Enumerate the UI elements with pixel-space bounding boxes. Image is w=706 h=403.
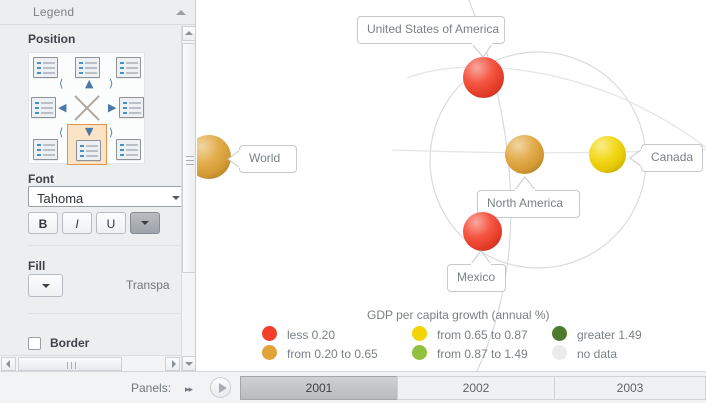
arrow-top-right-icon: ⟩ [109,78,113,89]
scrollbar-thumb[interactable] [182,43,196,273]
callout-tail-world [227,150,241,170]
callout-tail-north-america [515,176,537,192]
font-color-dropdown-button[interactable] [130,212,160,234]
legend-swatch-4 [552,326,567,341]
scroll-right-button[interactable] [165,357,180,371]
arrow-top-left-icon: ⟨ [59,78,63,89]
panel-header[interactable]: Legend [0,0,196,25]
legend-label-2: from 0.65 to 0.87 [437,328,528,342]
fill-section-label: Fill [28,259,45,273]
settings-scroll-content: Position ⟨ ▲ ⟩ ◀ [0,26,181,351]
timeline-item-2003[interactable]: 2003 [554,376,706,400]
fill-transparency-label: Transpa [126,278,170,292]
callout-tail-mexico [471,250,493,266]
position-cell-top-right[interactable]: ⟩ [107,53,146,90]
callout-world[interactable]: World [239,145,297,173]
legend-label-1: from 0.20 to 0.65 [287,347,378,361]
arrow-up-icon: ▲ [85,78,93,89]
chevron-down-icon [42,284,50,288]
position-cell-bottom-center-selected[interactable]: ▼ [67,124,107,165]
legend-label-4: greater 1.49 [577,328,642,342]
triangle-right-icon [172,360,176,368]
legend-title: GDP per capita growth (annual %) [367,308,550,322]
bubble-chart-canvas[interactable]: World United States of America North Ame… [197,0,706,371]
position-cell-top-center[interactable]: ▲ [68,53,107,90]
font-section-label: Font [28,172,54,186]
legend-settings-panel: Legend Position ⟨ ▲ ⟩ [0,0,196,371]
settings-horizontal-scrollbar[interactable] [0,355,181,371]
chevron-down-icon [141,221,149,225]
italic-button[interactable]: I [62,212,92,234]
scrollbar-thumb[interactable] [18,357,122,371]
play-button[interactable] [210,377,231,398]
legend-swatch-0 [262,326,277,341]
arrow-right-icon: ▶ [108,102,116,113]
italic-label: I [63,217,91,231]
font-family-value: Tahoma [37,191,83,206]
position-cell-bottom-right[interactable]: ⟩ [107,127,146,164]
font-family-select[interactable]: Tahoma [28,186,181,207]
arrow-bottom-left-icon: ⟨ [59,127,63,138]
divider [28,245,181,246]
legend-swatch-3 [412,345,427,360]
position-cell-top-left[interactable]: ⟨ [29,53,68,90]
position-cell-middle-left[interactable]: ◀ [29,90,68,127]
scroll-left-button[interactable] [1,357,16,371]
underline-label: U [97,217,125,231]
triangle-down-icon [185,362,193,366]
divider [28,313,181,314]
legend-label-5: no data [577,347,617,361]
callout-mexico[interactable]: Mexico [447,264,506,292]
settings-vertical-scrollbar[interactable] [181,26,196,371]
double-chevron-right-icon[interactable]: ▸▸ [185,384,192,395]
play-icon [219,383,227,393]
chevron-down-icon [172,196,180,200]
legend-swatch-1 [262,345,277,360]
triangle-up-icon [185,31,193,35]
fill-color-dropdown-button[interactable] [28,274,63,297]
legend-label-0: less 0.20 [287,328,335,342]
bubble-canada[interactable] [589,136,626,173]
position-cell-bottom-left[interactable]: ⟨ [29,127,68,164]
callout-tail-canada [629,149,643,169]
border-section-label: Border [50,336,89,350]
legend-swatch-5 [552,345,567,360]
application-window: Legend Position ⟨ ▲ ⟩ [0,0,706,403]
bubble-mexico[interactable] [463,212,502,251]
border-checkbox[interactable] [28,337,41,350]
callout-label: Canada [651,150,693,164]
bold-label: B [29,217,57,231]
arrow-down-icon: ▼ [85,126,93,137]
bold-button[interactable]: B [28,212,58,234]
callout-tail-usa [472,43,494,59]
position-cell-middle-right[interactable]: ▶ [107,90,146,127]
underline-button[interactable]: U [96,212,126,234]
timeline-item-2002[interactable]: 2002 [397,376,555,400]
chevron-up-icon[interactable] [176,10,186,15]
triangle-left-icon [6,360,10,368]
legend-label-3: from 0.87 to 1.49 [437,347,528,361]
panels-label: Panels: [131,381,171,395]
callout-label: United States of America [367,22,499,36]
timeline-label: 2001 [241,381,397,395]
scroll-down-button[interactable] [182,356,196,371]
legend-swatch-2 [412,326,427,341]
callout-united-states-of-america[interactable]: United States of America [357,16,505,44]
arrow-left-icon: ◀ [58,102,66,113]
bubble-united-states-of-america[interactable] [463,57,504,98]
callout-canada[interactable]: Canada [641,144,703,172]
timeline-item-2001[interactable]: 2001 [240,376,398,400]
callout-label: Mexico [457,270,495,284]
callout-label: North America [487,196,563,210]
scroll-up-button[interactable] [182,26,196,41]
position-none-icon[interactable] [70,91,104,125]
position-section-label: Position [28,32,75,46]
timeline-bar: Panels: ▸▸ 2001 2002 2003 [0,371,706,403]
bubble-north-america[interactable] [505,135,544,174]
arrow-bottom-right-icon: ⟩ [109,127,113,138]
timeline-label: 2003 [555,381,705,395]
callout-label: World [249,151,280,165]
timeline-label: 2002 [398,381,554,395]
legend-position-matrix[interactable]: ⟨ ▲ ⟩ ◀ ▶ [28,52,145,164]
panel-title: Legend [33,5,74,19]
